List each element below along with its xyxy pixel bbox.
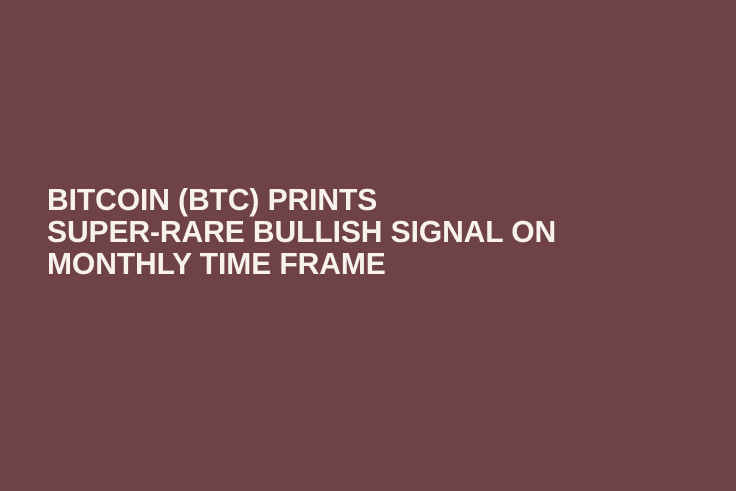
headline-line-1: BITCOIN (BTC) PRINTS bbox=[47, 184, 658, 216]
headline-line-2: SUPER-RARE BULLISH SIGNAL ON bbox=[47, 216, 658, 248]
page-title: BITCOIN (BTC) PRINTS SUPER-RARE BULLISH … bbox=[47, 184, 667, 280]
hero-card: BITCOIN (BTC) PRINTS SUPER-RARE BULLISH … bbox=[0, 0, 736, 491]
headline-line-3: MONTHLY TIME FRAME bbox=[47, 248, 658, 280]
